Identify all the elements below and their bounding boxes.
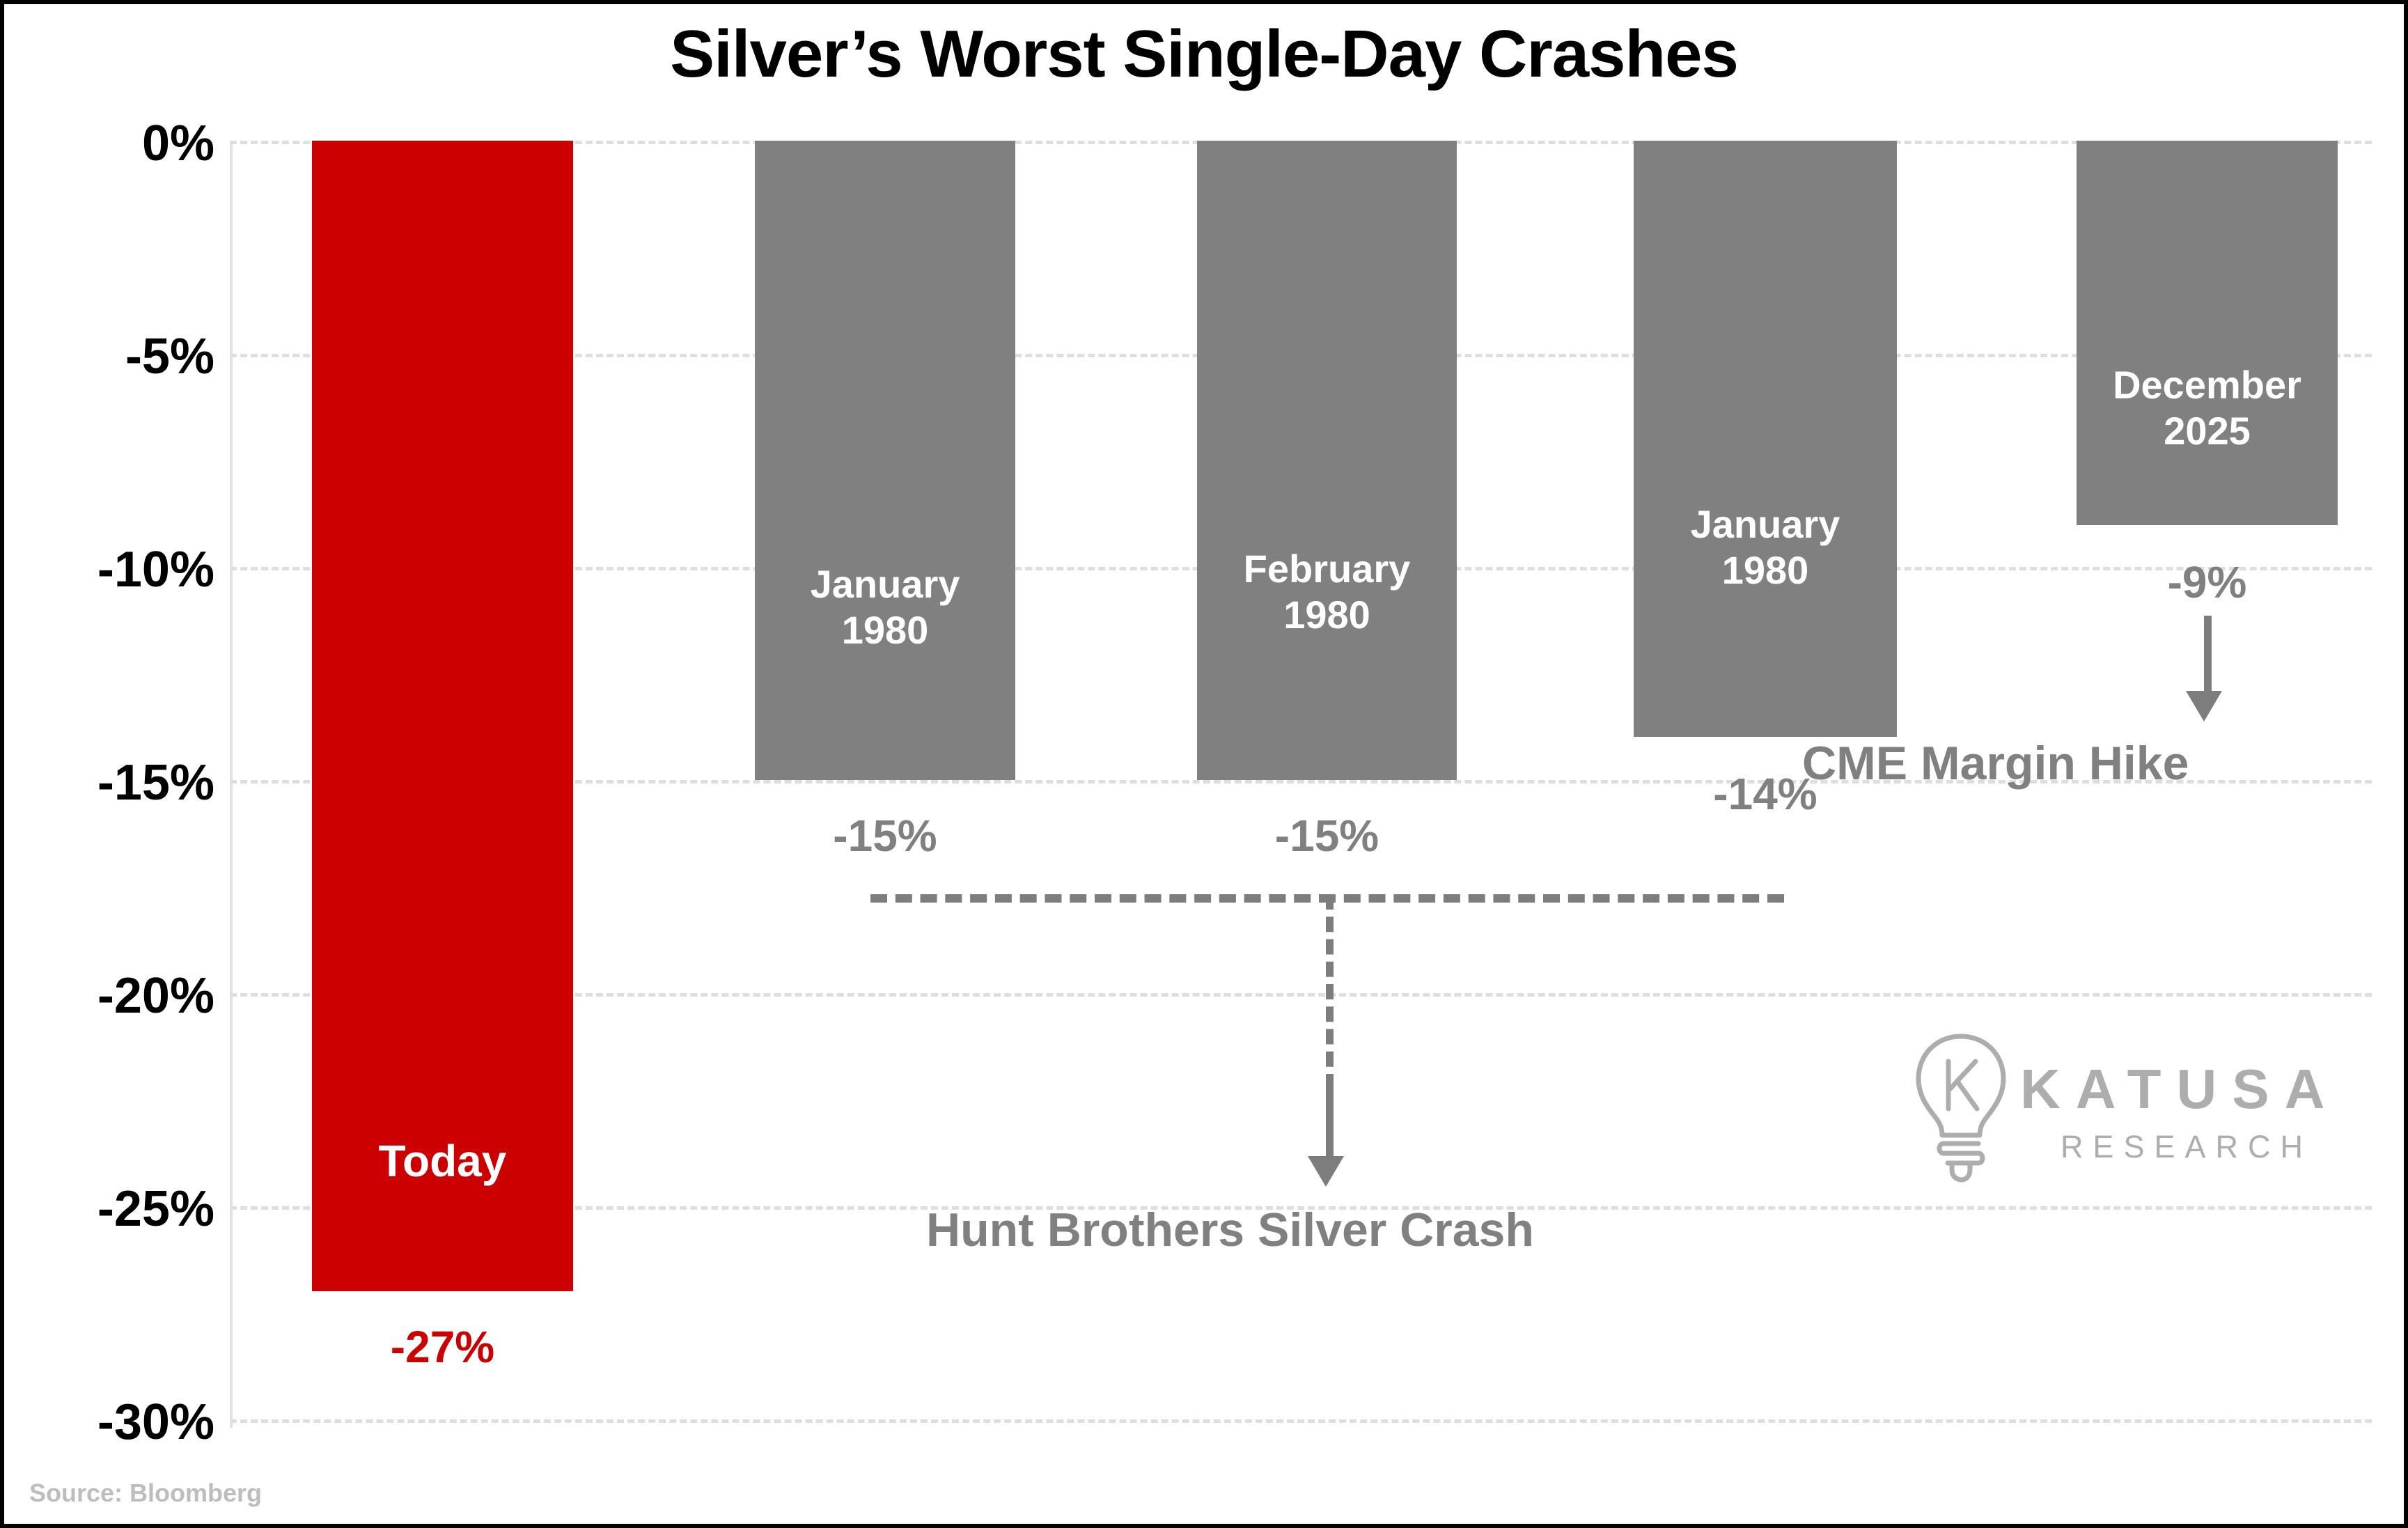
plot-area: Today -27% January 1980 -15% February 19… bbox=[230, 141, 2372, 1428]
hunt-annotation-label: Hunt Brothers Silver Crash bbox=[926, 1206, 1534, 1254]
bar-december-2025[interactable]: December 2025 bbox=[2077, 141, 2338, 525]
bar-label-today: Today bbox=[312, 1137, 573, 1187]
bar-label-december-2025-line2: 2025 bbox=[2077, 410, 2338, 453]
bar-label-january-1980-b-line1: January bbox=[1634, 503, 1897, 547]
hunt-annotation-stem bbox=[1326, 894, 1334, 1089]
hunt-annotation-arrow-icon bbox=[1308, 1156, 1344, 1187]
bar-value-december-2025: -9% bbox=[2077, 560, 2338, 605]
hunt-annotation-stem-solid bbox=[1326, 1089, 1334, 1159]
bar-label-february-1980-line1: February bbox=[1197, 547, 1457, 591]
y-axis-tick-3: -15% bbox=[33, 758, 214, 808]
gridline-30 bbox=[230, 1419, 2372, 1423]
logo-wordmark: KATUSA bbox=[2020, 1061, 2340, 1117]
bar-january-1980-a[interactable]: January 1980 bbox=[755, 141, 1015, 780]
y-axis-tick-0: 0% bbox=[33, 118, 214, 169]
bar-label-january-1980-a-line2: 1980 bbox=[755, 609, 1015, 653]
bar-january-1980-b[interactable]: January 1980 bbox=[1634, 141, 1897, 737]
bar-label-december-2025-line1: December bbox=[2077, 364, 2338, 407]
bar-label-february-1980-line2: 1980 bbox=[1197, 593, 1457, 637]
bar-value-february-1980: -15% bbox=[1197, 813, 1457, 858]
y-axis-tick-5: -25% bbox=[33, 1184, 214, 1234]
bar-today[interactable]: Today bbox=[312, 141, 573, 1291]
y-axis-tick-4: -20% bbox=[33, 971, 214, 1021]
y-axis-line bbox=[230, 141, 233, 1428]
y-axis-tick-2: -10% bbox=[33, 545, 214, 595]
bar-label-january-1980-a-line1: January bbox=[755, 563, 1015, 607]
y-axis-tick-6: -30% bbox=[33, 1397, 214, 1447]
bar-value-january-1980-a: -15% bbox=[755, 813, 1015, 858]
source-note: Source: Bloomberg bbox=[29, 1481, 262, 1506]
katusa-research-logo: KATUSA RESEARCH bbox=[1909, 1028, 2313, 1188]
lightbulb-k-icon bbox=[1909, 1031, 2013, 1184]
cme-annotation-label: CME Margin Hike bbox=[1802, 740, 2189, 787]
bar-label-january-1980-b-line2: 1980 bbox=[1634, 549, 1897, 593]
chart-title: Silver’s Worst Single-Day Crashes bbox=[4, 21, 2404, 88]
bar-february-1980[interactable]: February 1980 bbox=[1197, 141, 1457, 780]
cme-annotation-stem bbox=[2204, 616, 2212, 694]
chart-canvas: Silver’s Worst Single-Day Crashes 0% -5%… bbox=[4, 4, 2404, 1524]
logo-subwordmark: RESEARCH bbox=[2026, 1131, 2313, 1162]
bar-value-today: -27% bbox=[312, 1325, 573, 1369]
cme-annotation-arrow-icon bbox=[2186, 691, 2222, 722]
y-axis-tick-1: -5% bbox=[33, 332, 214, 382]
